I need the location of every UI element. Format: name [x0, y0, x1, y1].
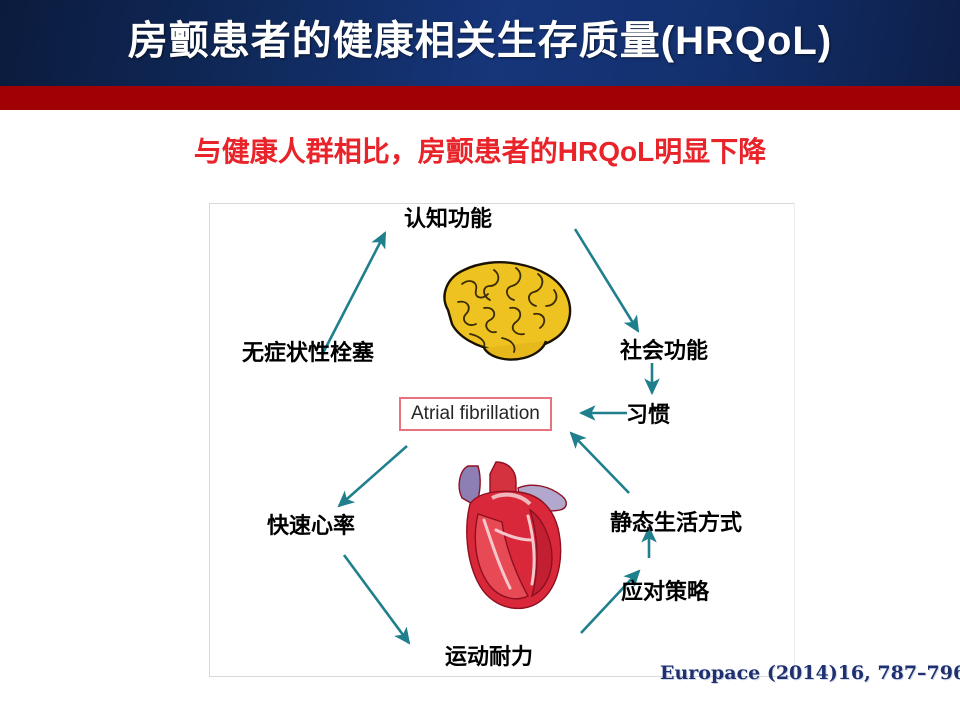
arrow-af-to-rapid-heart-rate [339, 446, 407, 506]
page-title: 房颤患者的健康相关生存质量(HRQoL) [0, 12, 960, 70]
atrial-fibrillation-box[interactable]: Atrial fibrillation [399, 397, 552, 431]
label-habits[interactable]: 习惯 [626, 397, 670, 429]
header-red-rule [0, 86, 960, 110]
label-coping-strategy[interactable]: 应对策略 [621, 574, 709, 606]
label-exercise-tolerance[interactable]: 运动耐力 [445, 639, 533, 671]
label-cognitive-function[interactable]: 认知功能 [404, 201, 492, 233]
label-sedentary-lifestyle[interactable]: 静态生活方式 [610, 505, 742, 537]
citation-text: Europace (2014)16, 787–796 [660, 662, 960, 684]
arrow-to-social-function [575, 229, 638, 331]
arrow-rapid-heart-rate-to-exercise [344, 555, 409, 643]
label-social-function[interactable]: 社会功能 [620, 333, 708, 365]
brain-icon [424, 248, 584, 368]
slide-canvas: 房颤患者的健康相关生存质量(HRQoL) 与健康人群相比，房颤患者的HRQoL明… [0, 0, 960, 720]
heart-icon [434, 458, 584, 623]
subtitle-text: 与健康人群相比，房颤患者的HRQoL明显下降 [0, 130, 960, 170]
label-asymptomatic-embolism[interactable]: 无症状性栓塞 [242, 335, 374, 367]
diagram-container: Atrial fibrillation 认知功能 无症状性栓塞 社会功能 习惯 … [209, 203, 795, 677]
label-rapid-heart-rate[interactable]: 快速心率 [267, 508, 355, 540]
